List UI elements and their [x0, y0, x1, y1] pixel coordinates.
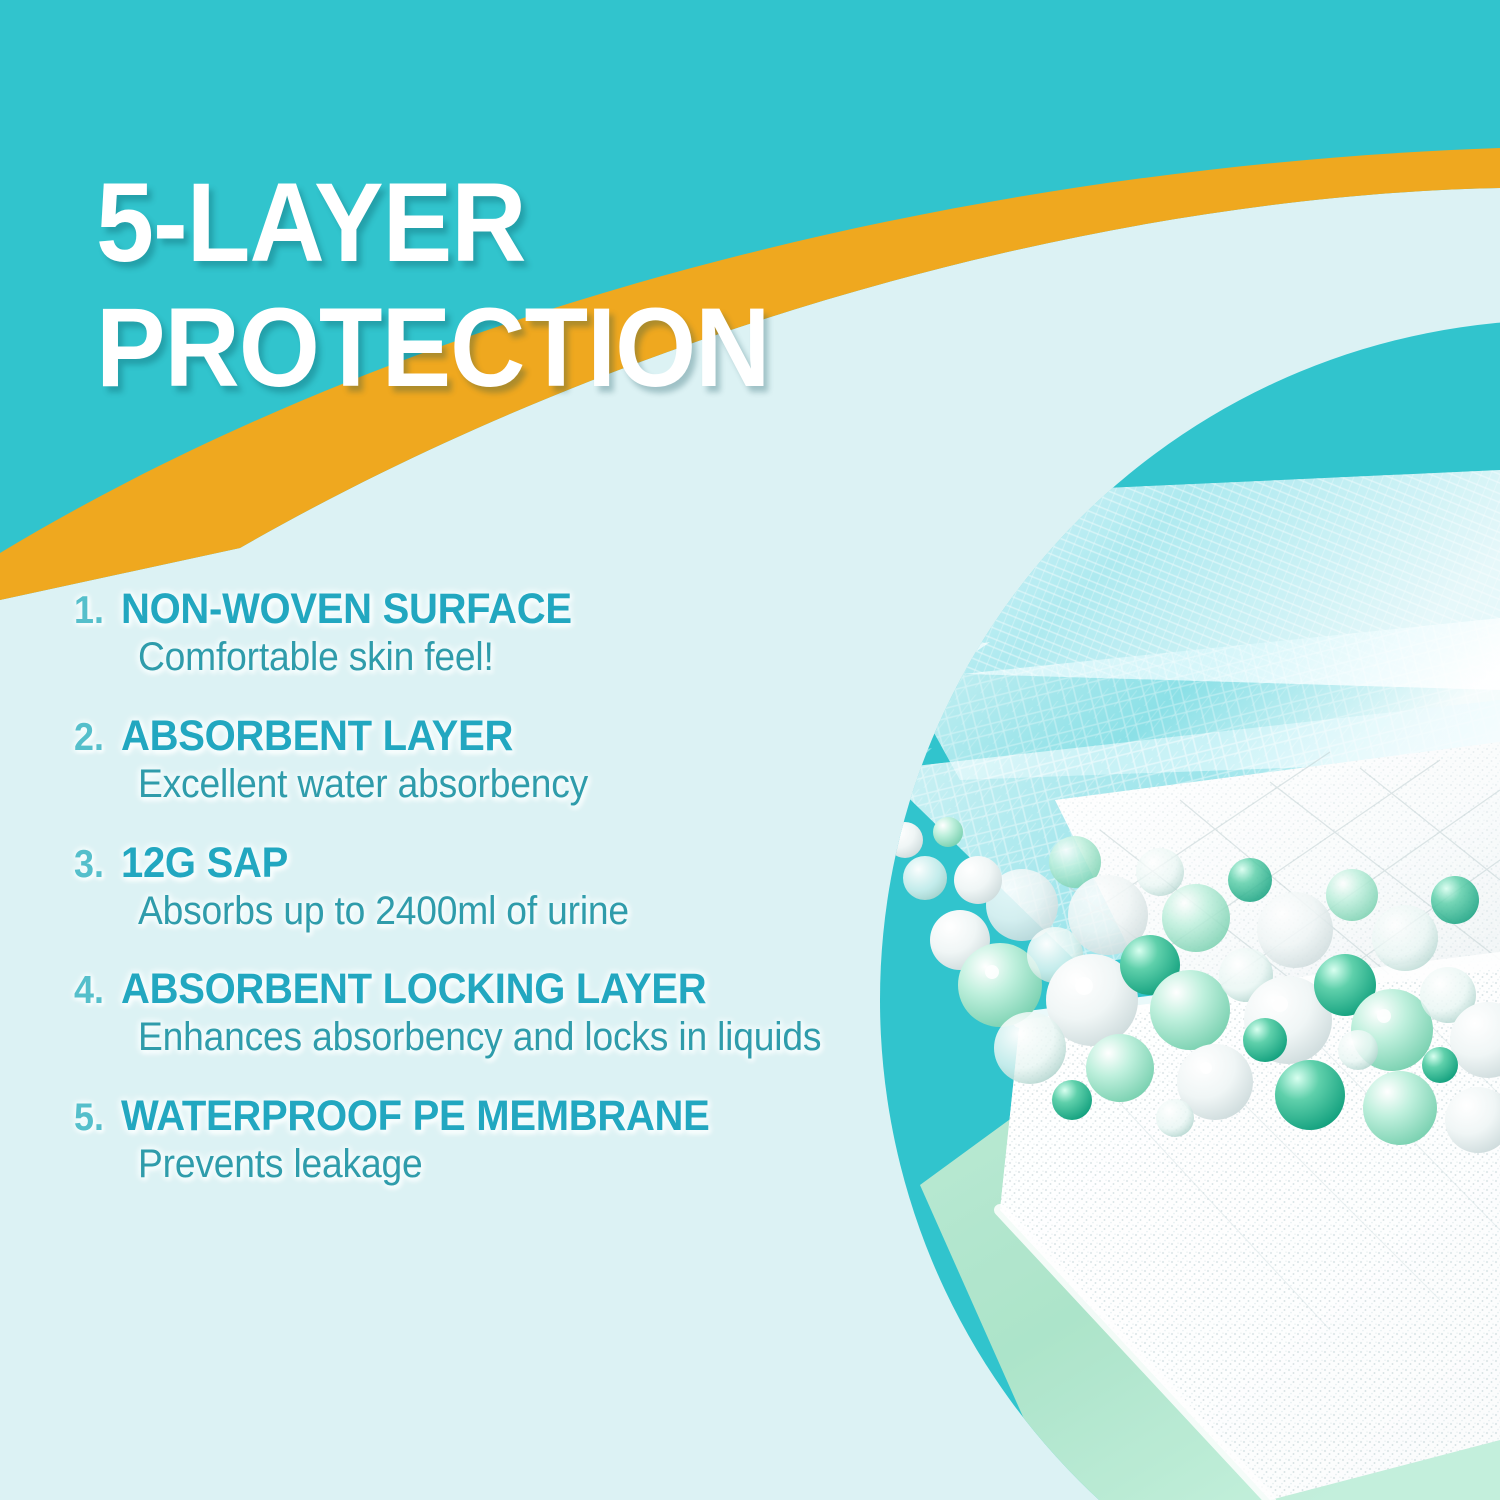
feature-list: 1.NON-WOVEN SURFACE Comfortable skin fee… [74, 588, 954, 1187]
illustration-clip-group [880, 470, 1500, 1500]
feature-subtitle-3: Absorbs up to 2400ml of urine [138, 889, 629, 934]
feature-title-3: 12G SAP [121, 842, 288, 885]
feature-title-4: ABSORBENT LOCKING LAYER [121, 968, 706, 1011]
feature-number-1: 1. [74, 591, 104, 630]
feature-number-5: 5. [74, 1098, 104, 1137]
feature-heading-row-2: 2.ABSORBENT LAYER [74, 715, 954, 758]
feature-item-3: 3.12G SAP Absorbs up to 2400ml of urine [74, 842, 954, 934]
feature-subtitle-5: Prevents leakage [138, 1142, 422, 1187]
feature-title-1: NON-WOVEN SURFACE [121, 588, 572, 631]
feature-title-5: WATERPROOF PE MEMBRANE [121, 1095, 710, 1138]
feature-number-3: 3. [74, 845, 104, 884]
feature-heading-row-5: 5.WATERPROOF PE MEMBRANE [74, 1095, 954, 1138]
page-title: 5-LAYER PROTECTION [96, 160, 996, 411]
title-line-1: 5-LAYER [96, 160, 933, 285]
feature-subtitle-2: Excellent water absorbency [138, 762, 588, 807]
feature-item-1: 1.NON-WOVEN SURFACE Comfortable skin fee… [74, 588, 954, 680]
feature-heading-row-3: 3.12G SAP [74, 842, 954, 885]
title-line-2: PROTECTION [96, 285, 933, 410]
feature-heading-row-1: 1.NON-WOVEN SURFACE [74, 588, 954, 631]
feature-item-4: 4.ABSORBENT LOCKING LAYER Enhances absor… [74, 968, 954, 1060]
feature-number-2: 2. [74, 718, 104, 757]
feature-item-5: 5.WATERPROOF PE MEMBRANE Prevents leakag… [74, 1095, 954, 1187]
infographic-canvas: 5-LAYER PROTECTION 1.NON-WOVEN SURFACE C… [0, 0, 1500, 1500]
feature-heading-row-4: 4.ABSORBENT LOCKING LAYER [74, 968, 954, 1011]
feature-subtitle-4: Enhances absorbency and locks in liquids [138, 1015, 821, 1060]
feature-item-2: 2.ABSORBENT LAYER Excellent water absorb… [74, 715, 954, 807]
feature-subtitle-1: Comfortable skin feel! [138, 635, 494, 680]
feature-number-4: 4. [74, 971, 104, 1010]
feature-title-2: ABSORBENT LAYER [121, 715, 513, 758]
